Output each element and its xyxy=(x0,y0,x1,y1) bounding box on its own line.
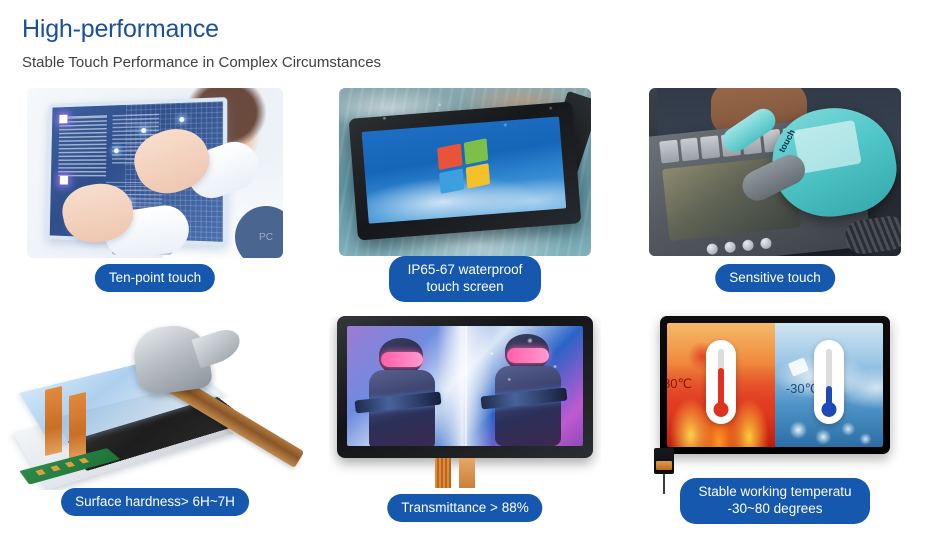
feature-label-line-1: IP65-67 waterproof xyxy=(408,262,523,277)
hot-panel: 80℃ xyxy=(667,323,775,447)
feature-card-ip65-67-waterproof[interactable]: IP65-67 waterproof touch screen xyxy=(310,88,620,316)
thermometer-bulb xyxy=(822,402,837,417)
feature-label-transmittance: Transmittance > 88% xyxy=(387,494,542,522)
fpc-cable xyxy=(45,386,62,456)
feature-grid-page: High-performance Stable Touch Performanc… xyxy=(0,0,930,544)
feature-card-surface-hardness[interactable]: Surface hardness> 6H~7H xyxy=(0,316,310,544)
feature-image-ip65-67-waterproof xyxy=(339,88,591,256)
features-row-top: PC Ten-point touch xyxy=(0,88,930,316)
character-goggles xyxy=(381,352,423,367)
feature-image-sensitive-touch: touch xyxy=(649,88,901,256)
panel-connector xyxy=(654,448,674,474)
feature-card-transmittance[interactable]: Transmittance > 88% xyxy=(310,316,620,544)
screen-seam xyxy=(465,326,467,446)
temperature-split-screen: 80℃ -30℃ xyxy=(667,323,883,447)
feature-image-surface-hardness xyxy=(7,320,303,490)
feature-label-ten-point-touch: Ten-point touch xyxy=(95,264,215,292)
cold-thermometer-icon xyxy=(814,340,844,424)
hammer-claw xyxy=(191,326,244,369)
feature-label-line-2: -30~80 degrees xyxy=(728,501,823,516)
fpc-cable xyxy=(459,458,475,488)
feature-label-ip65-67-waterproof: IP65-67 waterproof touch screen xyxy=(389,256,541,302)
feature-image-stable-working-temperature: 80℃ -30℃ xyxy=(660,316,890,454)
monitor-screen xyxy=(347,326,583,446)
touch-point-icon xyxy=(60,176,68,185)
hot-thermometer-icon xyxy=(706,340,736,424)
features-grid: PC Ten-point touch xyxy=(0,88,930,544)
thermometer-bulb xyxy=(714,402,729,417)
feature-label-sensitive-touch: Sensitive touch xyxy=(715,264,835,292)
debris-particles xyxy=(470,332,579,404)
feature-label-line-2: touch screen xyxy=(426,279,503,294)
fpc-cable xyxy=(435,458,451,488)
feature-card-ten-point-touch[interactable]: PC Ten-point touch xyxy=(0,88,310,316)
feature-label-stable-working-temperature: Stable working temperatu -30~80 degrees xyxy=(680,478,870,524)
features-row-bottom: Surface hardness> 6H~7H xyxy=(0,316,930,544)
fpc-cable xyxy=(69,392,86,462)
feature-image-ten-point-touch: PC xyxy=(27,88,283,258)
feature-image-transmittance xyxy=(329,316,601,488)
terminal-button-row xyxy=(706,237,772,255)
page-subtitle: Stable Touch Performance in Complex Circ… xyxy=(22,53,381,73)
feature-label-line-1: Stable working temperatu xyxy=(698,484,851,499)
water-droplets xyxy=(339,88,591,256)
feature-label-surface-hardness: Surface hardness> 6H~7H xyxy=(61,488,249,516)
hot-temperature-label: 80℃ xyxy=(667,376,692,392)
feature-card-sensitive-touch[interactable]: touch Sensitive touch xyxy=(620,88,930,316)
touch-point-icon xyxy=(59,115,67,124)
game-character-left xyxy=(361,338,445,446)
connector-wire xyxy=(663,472,665,494)
cold-panel: -30℃ xyxy=(775,323,883,447)
game-monitor xyxy=(337,316,593,458)
page-title: High-performance xyxy=(22,14,381,44)
feature-card-stable-working-temperature[interactable]: 80℃ -30℃ xyxy=(620,316,930,544)
page-header: High-performance Stable Touch Performanc… xyxy=(22,14,381,73)
screen-text-block xyxy=(58,115,107,177)
